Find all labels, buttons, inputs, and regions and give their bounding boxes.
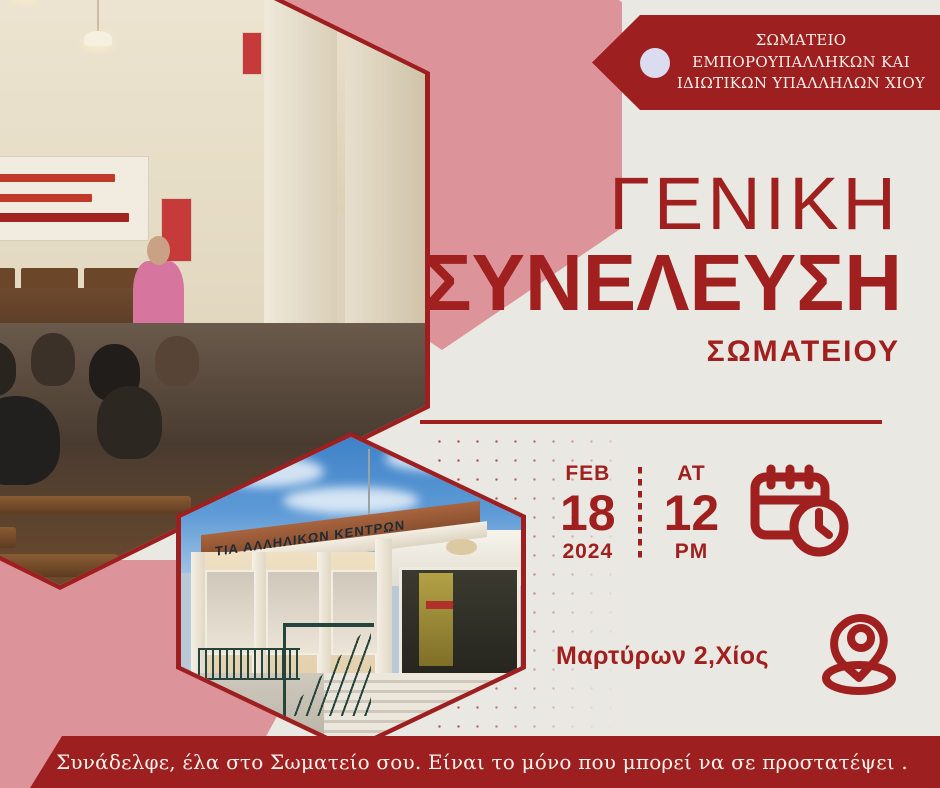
org-line-2: ΕΜΠΟΡΟΥΠΑΛΛΗΚΩΝ ΚΑΙ — [670, 52, 932, 74]
building-artwork: ΤΙΑ ΑΛΛΗΛΙΚΩΝ ΚΕΝΤΡΩΝ — [181, 437, 521, 747]
banner-message: Συνάδελφε, έλα στο Σωματείο σου. Είναι τ… — [32, 750, 908, 774]
bottom-banner: Συνάδελφε, έλα στο Σωματείο σου. Είναι τ… — [0, 736, 940, 788]
calendar-clock-icon — [747, 463, 851, 564]
event-day: 18 — [560, 488, 616, 538]
event-hour: 12 — [664, 488, 720, 538]
event-location-block: Μαρτύρων 2,Χίος — [556, 608, 901, 705]
headline-block: ΓΕΝΙΚΗ ΣΥΝΕΛΕΥΣΗ ΣΩΜΑΤΕΙΟΥ — [420, 168, 900, 369]
poster-canvas: ΤΙΑ ΑΛΛΗΛΙΚΩΝ ΚΕΝΤΡΩΝ — [0, 0, 940, 788]
event-time: AT 12 PM — [664, 462, 720, 564]
hexagon-image-clip: ΤΙΑ ΑΛΛΗΛΙΚΩΝ ΚΕΝΤΡΩΝ — [181, 437, 521, 747]
dotted-separator — [638, 467, 642, 559]
event-meridiem: PM — [675, 540, 709, 564]
time-prefix-label: AT — [677, 462, 705, 486]
event-datetime-block: FEB 18 2024 AT 12 PM — [560, 462, 851, 564]
circle-bullet-icon — [640, 48, 670, 78]
organization-name: ΣΩΜΑΤΕΙΟ ΕΜΠΟΡΟΥΠΑΛΛΗΚΩΝ ΚΑΙ ΙΔΙΩΤΙΚΩΝ Υ… — [670, 30, 940, 95]
headline-line-3: ΣΩΜΑΤΕΙΟΥ — [420, 335, 900, 369]
org-line-3: ΙΔΙΩΤΙΚΩΝ ΥΠΑΛΛΗΛΩΝ ΧΙΟΥ — [670, 73, 932, 95]
headline-divider — [420, 420, 882, 424]
event-date: FEB 18 2024 — [560, 462, 616, 564]
event-year: 2024 — [562, 540, 613, 564]
headline-line-2: ΣΥΝΕΛΕΥΣΗ — [420, 243, 902, 323]
event-month: FEB — [565, 462, 610, 486]
event-address: Μαρτύρων 2,Χίος — [556, 642, 769, 671]
headline-line-1: ΓΕΝΙΚΗ — [420, 168, 900, 239]
organization-tag: ΣΩΜΑΤΕΙΟ ΕΜΠΟΡΟΥΠΑΛΛΗΚΩΝ ΚΑΙ ΙΔΙΩΤΙΚΩΝ Υ… — [592, 15, 940, 110]
org-line-1: ΣΩΜΑΤΕΙΟ — [670, 30, 932, 52]
map-pin-icon — [817, 608, 901, 705]
union-building-photo: ΤΙΑ ΑΛΛΗΛΙΚΩΝ ΚΕΝΤΡΩΝ — [176, 432, 526, 752]
